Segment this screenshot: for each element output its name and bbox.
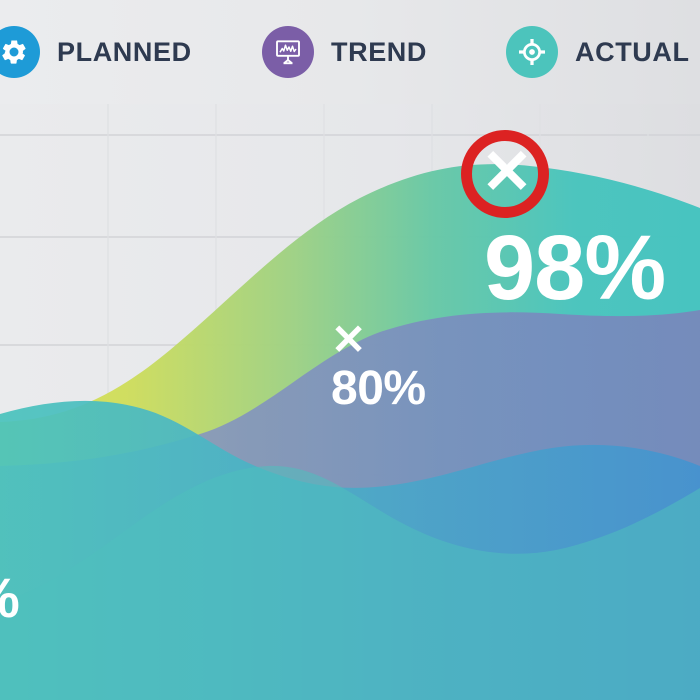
value-label-actual: 98% xyxy=(484,222,665,314)
x-marker-trend: ✕ xyxy=(331,319,366,361)
dashboard-area-chart: ✕ 98% ✕ 80% % PLANNED xyxy=(0,0,700,700)
legend-label-planned: PLANNED xyxy=(57,37,192,68)
chart-legend: PLANNED TREND xyxy=(0,0,700,104)
target-icon xyxy=(506,26,558,78)
legend-item-planned[interactable]: PLANNED xyxy=(0,26,192,78)
value-label-trend: 80% xyxy=(331,365,426,413)
highlight-ring xyxy=(461,130,549,218)
legend-label-trend: TREND xyxy=(331,37,427,68)
legend-item-trend[interactable]: TREND xyxy=(262,26,427,78)
value-label-clipped-edge: % xyxy=(0,570,19,626)
presentation-chart-icon xyxy=(262,26,314,78)
gear-icon xyxy=(0,26,40,78)
legend-item-actual[interactable]: ACTUAL xyxy=(506,26,690,78)
legend-label-actual: ACTUAL xyxy=(575,37,690,68)
